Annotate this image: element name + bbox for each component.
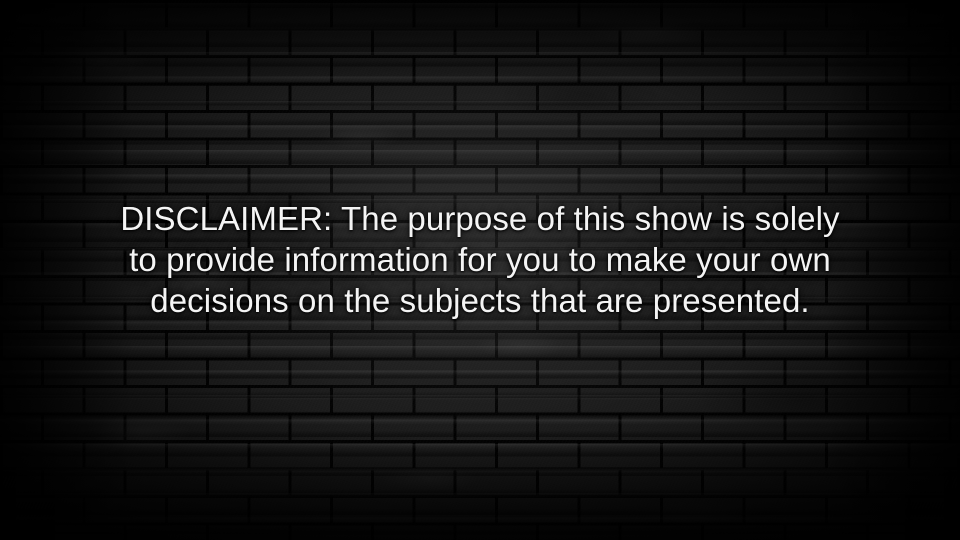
disclaimer-text: DISCLAIMER: The purpose of this show is … bbox=[0, 198, 960, 321]
disclaimer-slide: DISCLAIMER: The purpose of this show is … bbox=[0, 0, 960, 540]
